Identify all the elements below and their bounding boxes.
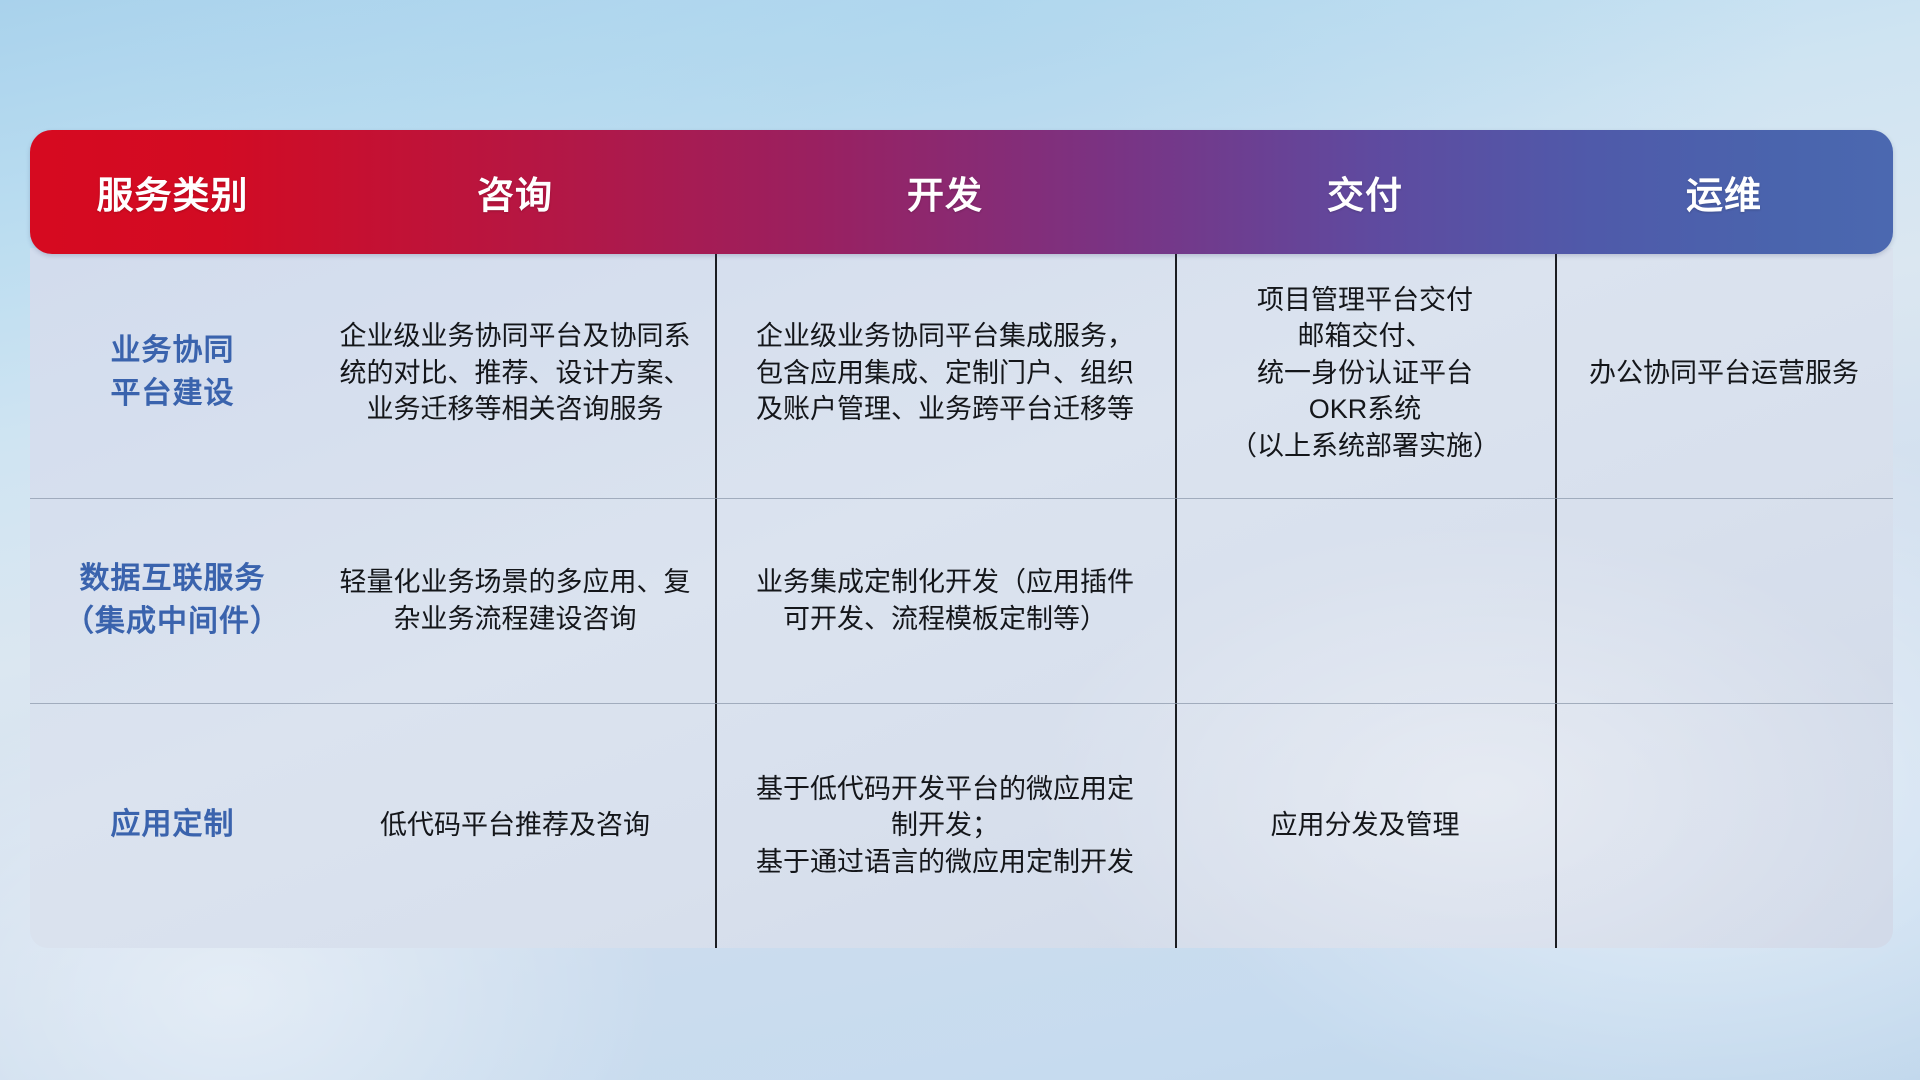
column-header-consulting: 咨询	[315, 165, 715, 219]
cell-development-1: 企业级业务协同平台集成服务， 包含应用集成、定制门户、组织 及账户管理、业务跨平…	[715, 248, 1175, 498]
cell-operations-3	[1555, 703, 1893, 948]
cell-operations-1: 办公协同平台运营服务	[1555, 248, 1893, 498]
cell-delivery-2	[1175, 498, 1555, 703]
cell-development-3: 基于低代码开发平台的微应用定 制开发； 基于通过语言的微应用定制开发	[715, 703, 1175, 948]
table-body: 业务协同 平台建设 企业级业务协同平台及协同系 统的对比、推荐、设计方案、 业务…	[30, 248, 1893, 948]
column-header-category: 服务类别	[30, 165, 315, 219]
cell-category-2: 数据互联服务 （集成中间件）	[30, 498, 315, 703]
cell-consulting-2: 轻量化业务场景的多应用、复 杂业务流程建设咨询	[315, 498, 715, 703]
cell-consulting-1: 企业级业务协同平台及协同系 统的对比、推荐、设计方案、 业务迁移等相关咨询服务	[315, 248, 715, 498]
service-matrix-table: 服务类别 咨询 开发 交付 运维 业务协同 平台建设 企业级业务协同平台及协同系…	[30, 130, 1893, 950]
table-row: 应用定制 低代码平台推荐及咨询 基于低代码开发平台的微应用定 制开发； 基于通过…	[30, 703, 1893, 948]
table-row: 数据互联服务 （集成中间件） 轻量化业务场景的多应用、复 杂业务流程建设咨询 业…	[30, 498, 1893, 703]
column-header-delivery: 交付	[1175, 165, 1555, 219]
cell-development-2: 业务集成定制化开发（应用插件 可开发、流程模板定制等）	[715, 498, 1175, 703]
table-row: 业务协同 平台建设 企业级业务协同平台及协同系 统的对比、推荐、设计方案、 业务…	[30, 248, 1893, 498]
cell-consulting-3: 低代码平台推荐及咨询	[315, 703, 715, 948]
column-header-operations: 运维	[1555, 165, 1893, 219]
cell-delivery-1: 项目管理平台交付 邮箱交付、 统一身份认证平台 OKR系统 （以上系统部署实施）	[1175, 248, 1555, 498]
table-header-row: 服务类别 咨询 开发 交付 运维	[30, 130, 1893, 254]
cell-category-3: 应用定制	[30, 703, 315, 948]
cell-category-1: 业务协同 平台建设	[30, 248, 315, 498]
cell-delivery-3: 应用分发及管理	[1175, 703, 1555, 948]
column-header-development: 开发	[715, 165, 1175, 219]
cell-operations-2	[1555, 498, 1893, 703]
